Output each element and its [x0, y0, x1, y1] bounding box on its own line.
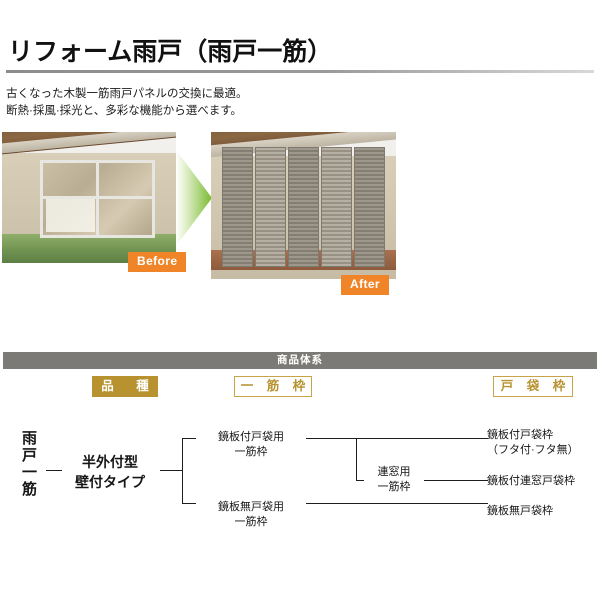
lead-text: 古くなった木製一筋雨戸パネルの交換に最適。 断熱·採風·採光と、多彩な機能から選… [6, 86, 426, 120]
connector-renso-to-result2 [424, 480, 488, 481]
connector-root-type [46, 470, 62, 471]
title-divider [6, 70, 594, 73]
tree-frame-1-line-1: 鏡板付戸袋用 [196, 430, 306, 445]
tree-type-line-1: 半外付型 [64, 452, 156, 472]
product-tree-diagram: 雨戸一筋 半外付型 壁付タイプ 鏡板付戸袋用 一筋枠 鏡板無戸袋用 一筋枠 連窓… [0, 408, 600, 558]
connector-to-frame-1 [182, 438, 196, 439]
connector-renso-in [356, 480, 364, 481]
connector-frame2-to-result3 [306, 503, 488, 504]
before-badge: Before [128, 252, 186, 272]
tree-renso-line-1: 連窓用 [363, 465, 425, 480]
before-after-comparison: Before After [0, 131, 600, 301]
tree-result-node-1: 鏡板付戸袋枠 （フタ付·フタ無） [487, 428, 600, 458]
tree-result-1-line-1: 鏡板付戸袋枠 [487, 428, 600, 443]
category-tobukurowaku: 戸 袋 枠 [493, 376, 573, 397]
tree-result-1-line-2: （フタ付·フタ無） [487, 443, 600, 458]
tree-renso-node: 連窓用 一筋枠 [363, 465, 425, 495]
tree-result-node-3: 鏡板無戸袋枠 [487, 504, 553, 519]
after-badge: After [341, 275, 389, 295]
lead-line-1: 古くなった木製一筋雨戸パネルの交換に最適。 [6, 86, 426, 103]
connector-renso-vertical [356, 438, 357, 480]
tree-frame-node-2: 鏡板無戸袋用 一筋枠 [196, 500, 306, 530]
connector-type-split [160, 470, 182, 471]
arrow-right-icon [176, 150, 212, 246]
tree-frame-1-line-2: 一筋枠 [196, 445, 306, 460]
transition-arrow [176, 132, 212, 263]
lead-line-2: 断熱·採風·採光と、多彩な機能から選べます。 [6, 103, 426, 120]
connector-to-frame-2 [182, 503, 196, 504]
before-photo [2, 132, 176, 263]
tree-frame-2-line-1: 鏡板無戸袋用 [196, 500, 306, 515]
tree-type-node: 半外付型 壁付タイプ [64, 452, 156, 492]
tree-frame-2-line-2: 一筋枠 [196, 515, 306, 530]
page-title: リフォーム雨戸（雨戸一筋） [8, 32, 332, 68]
category-hitosujiwaku: 一 筋 枠 [234, 376, 312, 397]
connector-split-vertical [182, 438, 183, 503]
tree-result-node-2: 鏡板付連窓戸袋枠 [487, 474, 575, 489]
connector-frame1-to-result1 [306, 438, 488, 439]
after-photo [211, 132, 396, 279]
tree-type-line-2: 壁付タイプ [64, 472, 156, 492]
tree-root-label: 雨戸一筋 [18, 430, 38, 534]
tree-frame-node-1: 鏡板付戸袋用 一筋枠 [196, 430, 306, 460]
catalog-page: リフォーム雨戸（雨戸一筋） 古くなった木製一筋雨戸パネルの交換に最適。 断熱·採… [0, 0, 600, 600]
category-hinshu: 品 種 [92, 376, 158, 397]
system-bar-title: 商品体系 [3, 352, 597, 369]
tree-renso-line-2: 一筋枠 [363, 480, 425, 495]
